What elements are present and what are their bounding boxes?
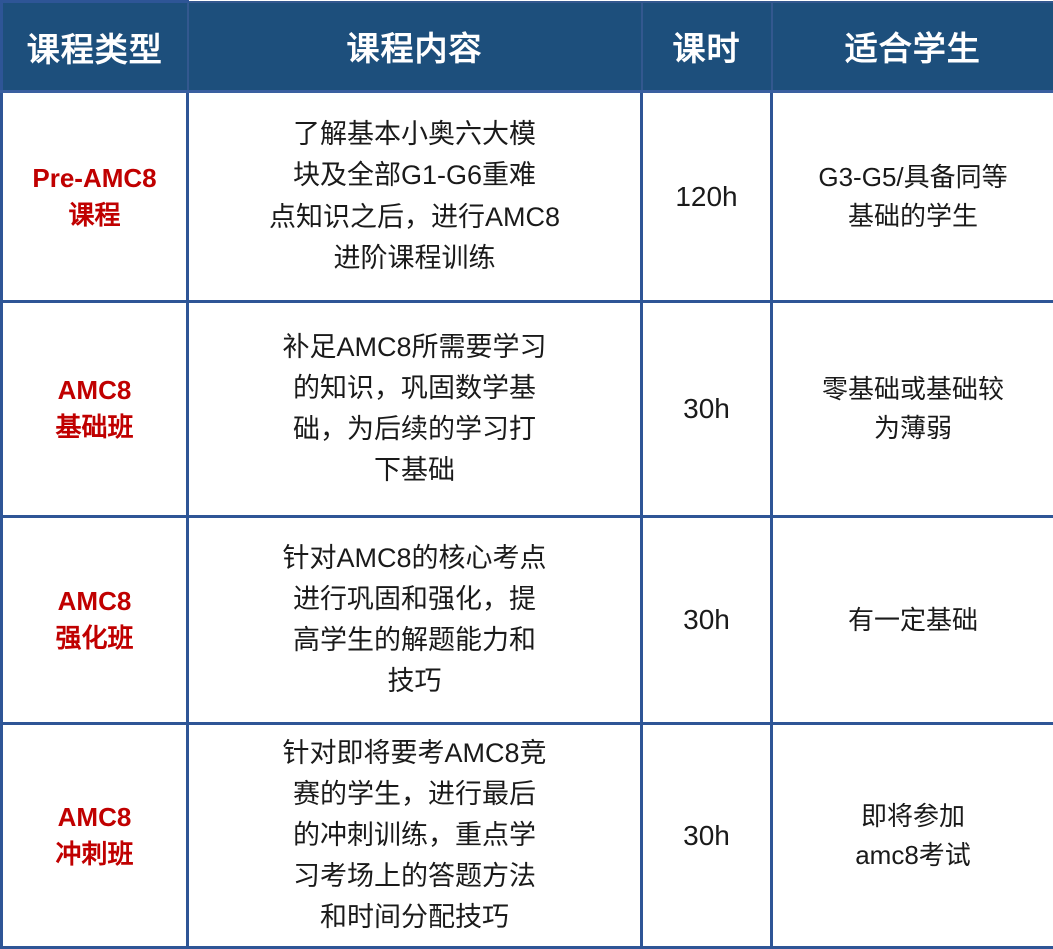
course-type-suffix: 基础班	[9, 409, 180, 446]
cell-course-type: AMC8 冲刺班	[2, 724, 188, 948]
cell-suitable-students: 零基础或基础较 为薄弱	[772, 302, 1053, 517]
cell-suitable-students: G3-G5/具备同等 基础的学生	[772, 92, 1053, 302]
course-type-name: AMC8	[58, 586, 132, 616]
table-row: AMC8 冲刺班 针对即将要考AMC8竞 赛的学生，进行最后 的冲刺训练，重点学…	[2, 724, 1053, 948]
student-line: 即将参加	[779, 797, 1047, 836]
cell-suitable-students: 即将参加 amc8考试	[772, 724, 1053, 948]
cell-course-hours: 30h	[642, 724, 772, 948]
content-line: 针对即将要考AMC8竞	[195, 733, 634, 774]
cell-course-content: 了解基本小奥六大模 块及全部G1-G6重难 点知识之后，进行AMC8 进阶课程训…	[188, 92, 642, 302]
course-type-suffix: 课程	[9, 197, 180, 234]
cell-course-content: 针对AMC8的核心考点 进行巩固和强化，提 高学生的解题能力和 技巧	[188, 517, 642, 724]
course-type-name: AMC8	[58, 802, 132, 832]
content-line: 点知识之后，进行AMC8	[195, 197, 634, 238]
student-line: 零基础或基础较	[779, 370, 1047, 409]
content-line: 了解基本小奥六大模	[195, 114, 634, 155]
table-row: AMC8 基础班 补足AMC8所需要学习 的知识，巩固数学基 础，为后续的学习打…	[2, 302, 1053, 517]
course-type-name: AMC8	[58, 375, 132, 405]
cell-course-hours: 30h	[642, 517, 772, 724]
content-line: 针对AMC8的核心考点	[195, 538, 634, 579]
cell-course-type: AMC8 强化班	[2, 517, 188, 724]
student-line: amc8考试	[779, 836, 1047, 875]
course-type-suffix: 强化班	[9, 620, 180, 657]
content-line: 下基础	[195, 450, 634, 491]
content-line: 进阶课程训练	[195, 238, 634, 279]
student-line: 为薄弱	[779, 409, 1047, 448]
course-type-suffix: 冲刺班	[9, 836, 180, 873]
course-type-name: Pre-AMC8	[32, 163, 156, 193]
content-line: 技巧	[195, 661, 634, 702]
content-line: 块及全部G1-G6重难	[195, 155, 634, 196]
student-line: 有一定基础	[779, 601, 1047, 640]
cell-course-content: 针对即将要考AMC8竞 赛的学生，进行最后 的冲刺训练，重点学 习考场上的答题方…	[188, 724, 642, 948]
course-comparison-table: 课程类型 课程内容 课时 适合学生 Pre-AMC8 课程 了解基本小奥六大模 …	[0, 0, 1053, 949]
cell-course-content: 补足AMC8所需要学习 的知识，巩固数学基 础，为后续的学习打 下基础	[188, 302, 642, 517]
student-line: 基础的学生	[779, 197, 1047, 236]
table-header: 课程类型 课程内容 课时 适合学生	[2, 2, 1053, 92]
cell-suitable-students: 有一定基础	[772, 517, 1053, 724]
cell-course-type: Pre-AMC8 课程	[2, 92, 188, 302]
content-line: 习考场上的答题方法	[195, 856, 634, 897]
column-header-course-hours: 课时	[642, 2, 772, 92]
column-header-suitable-students: 适合学生	[772, 2, 1053, 92]
table-header-row: 课程类型 课程内容 课时 适合学生	[2, 2, 1053, 92]
table-row: AMC8 强化班 针对AMC8的核心考点 进行巩固和强化，提 高学生的解题能力和…	[2, 517, 1053, 724]
column-header-course-content: 课程内容	[188, 2, 642, 92]
cell-course-hours: 120h	[642, 92, 772, 302]
content-line: 进行巩固和强化，提	[195, 579, 634, 620]
cell-course-hours: 30h	[642, 302, 772, 517]
table-body: Pre-AMC8 课程 了解基本小奥六大模 块及全部G1-G6重难 点知识之后，…	[2, 92, 1053, 948]
table-row: Pre-AMC8 课程 了解基本小奥六大模 块及全部G1-G6重难 点知识之后，…	[2, 92, 1053, 302]
content-line: 和时间分配技巧	[195, 897, 634, 938]
student-line: G3-G5/具备同等	[779, 158, 1047, 197]
content-line: 补足AMC8所需要学习	[195, 327, 634, 368]
cell-course-type: AMC8 基础班	[2, 302, 188, 517]
content-line: 高学生的解题能力和	[195, 620, 634, 661]
content-line: 赛的学生，进行最后	[195, 774, 634, 815]
content-line: 的冲刺训练，重点学	[195, 815, 634, 856]
content-line: 的知识，巩固数学基	[195, 368, 634, 409]
content-line: 础，为后续的学习打	[195, 409, 634, 450]
column-header-course-type: 课程类型	[2, 2, 188, 92]
